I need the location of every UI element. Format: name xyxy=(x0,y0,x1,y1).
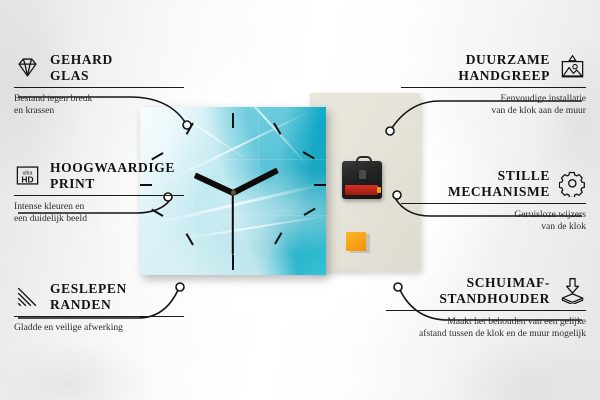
divider xyxy=(14,195,184,196)
diamond-icon xyxy=(14,54,41,81)
feature-stille-mechanisme: STILLE MECHANISME Geruisloze wijzers van… xyxy=(401,168,586,233)
foam-spacer xyxy=(346,232,366,251)
feature-desc: Maakt het behouden van een gelijke afsta… xyxy=(386,316,586,339)
ultra-hd-icon: ultra HD xyxy=(14,162,41,189)
feature-desc: Bestand tegen breuk en krassen xyxy=(14,93,184,116)
feature-head: SCHUIMAF- STANDHOUDER xyxy=(386,275,586,306)
feature-head: DUURZAME HANDGREEP xyxy=(401,52,586,83)
feature-hoogwaardige-print: ultra HD HOOGWAARDIGE PRINT Intense kleu… xyxy=(14,160,184,225)
divider xyxy=(386,310,586,311)
feature-title: HOOGWAARDIGE PRINT xyxy=(50,160,175,191)
divider xyxy=(401,87,586,88)
clock-tick xyxy=(274,232,282,244)
feature-head: ultra HD HOOGWAARDIGE PRINT xyxy=(14,160,184,191)
feature-title: GEHARD GLAS xyxy=(50,52,113,83)
svg-text:HD: HD xyxy=(21,174,33,184)
movement-shaft xyxy=(359,170,366,179)
clock-center-cap xyxy=(231,190,236,195)
divider xyxy=(14,87,184,88)
feature-desc: Geruisloze wijzers van de klok xyxy=(401,209,586,232)
feature-head: GEHARD GLAS xyxy=(14,52,184,83)
feature-title: DUURZAME HANDGREEP xyxy=(458,52,550,83)
clock-second-hand xyxy=(232,192,234,254)
clock-tick xyxy=(232,255,234,270)
battery xyxy=(345,185,378,195)
battery-tip xyxy=(377,187,381,193)
gear-icon xyxy=(559,170,586,197)
clock-tick xyxy=(232,113,234,128)
feature-desc: Eenvoudige installatie van de klok aan d… xyxy=(401,93,586,116)
divider xyxy=(401,203,586,204)
feature-title: STILLE MECHANISME xyxy=(448,168,550,199)
clock-movement xyxy=(342,161,382,199)
spacer-arrow-icon xyxy=(559,277,586,304)
clock-tick xyxy=(314,184,326,186)
bevelled-edges-icon xyxy=(14,283,41,310)
feature-geslepen-randen: GESLEPEN RANDEN Gladde en veilige afwerk… xyxy=(14,281,184,334)
feature-head: STILLE MECHANISME xyxy=(401,168,586,199)
feature-title: GESLEPEN RANDEN xyxy=(50,281,127,312)
movement-hanger xyxy=(356,156,372,165)
feature-gehard-glas: GEHARD GLAS Bestand tegen breuk en krass… xyxy=(14,52,184,117)
feature-title: SCHUIMAF- STANDHOUDER xyxy=(439,275,550,306)
feature-schuimafstandhouder: SCHUIMAF- STANDHOUDER Maakt het behouden… xyxy=(386,275,586,340)
product-infographic: GEHARD GLAS Bestand tegen breuk en krass… xyxy=(0,0,600,400)
feature-head: GESLEPEN RANDEN xyxy=(14,281,184,312)
picture-frame-icon xyxy=(559,54,586,81)
feature-desc: Intense kleuren en een duidelijk beeld xyxy=(14,201,184,224)
feature-duurzame-handgreep: DUURZAME HANDGREEP Eenvoudige installati… xyxy=(401,52,586,117)
clock-hour-hand xyxy=(194,173,235,196)
divider xyxy=(14,316,184,317)
feature-desc: Gladde en veilige afwerking xyxy=(14,322,184,334)
clock-minute-hand xyxy=(232,168,279,196)
